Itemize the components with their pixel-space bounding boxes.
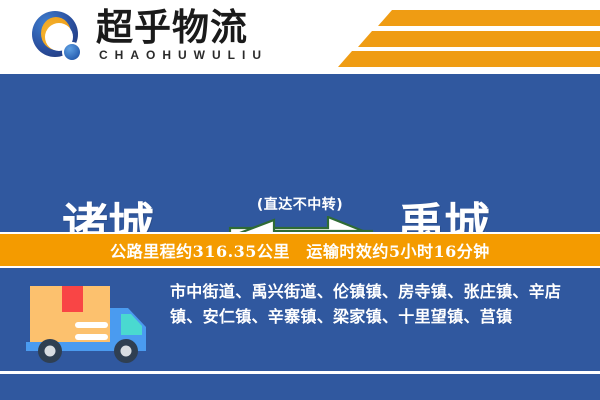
footer-band (0, 374, 600, 400)
truck-window (121, 314, 142, 335)
route-banner: 诸城 (直达不中转) 【往返运输】 禹城 (0, 74, 600, 232)
stripe-top (378, 10, 600, 26)
truck-cargo-label (62, 286, 83, 312)
logistics-route-poster: 超乎物流 CHAOHUWULIU 诸城 (直达不中转) 【往返运输】 禹城 公路… (0, 0, 600, 400)
truck-svg (22, 278, 162, 364)
distance-duration-text: 公路里程约316.35公里 运输时效约5小时16分钟 (110, 238, 490, 262)
orange-speed-stripes-icon (330, 0, 600, 72)
truck-stripe-upper (75, 322, 108, 328)
truck-stripe-lower (75, 334, 108, 340)
coverage-area-text: 市中街道、禹兴街道、伦镇镇、房寺镇、张庄镇、辛店镇、安仁镇、辛寨镇、梁家镇、十里… (170, 279, 588, 329)
truck-hub-rear (45, 346, 56, 357)
circle-crescent-logo-icon (32, 11, 84, 63)
delivery-truck-icon (22, 278, 162, 364)
logo-accent-dot (62, 42, 82, 62)
truck-hub-front (121, 346, 132, 357)
stripe-middle (358, 31, 600, 47)
brand-name-chinese: 超乎物流 (96, 7, 248, 47)
stripe-bottom (338, 51, 600, 67)
brand-name-pinyin: CHAOHUWULIU (99, 48, 268, 62)
direct-service-note: (直达不中转) (0, 194, 600, 214)
distance-duration-bar: 公路里程约316.35公里 运输时效约5小时16分钟 (0, 234, 600, 266)
poster-header: 超乎物流 CHAOHUWULIU (0, 0, 600, 72)
